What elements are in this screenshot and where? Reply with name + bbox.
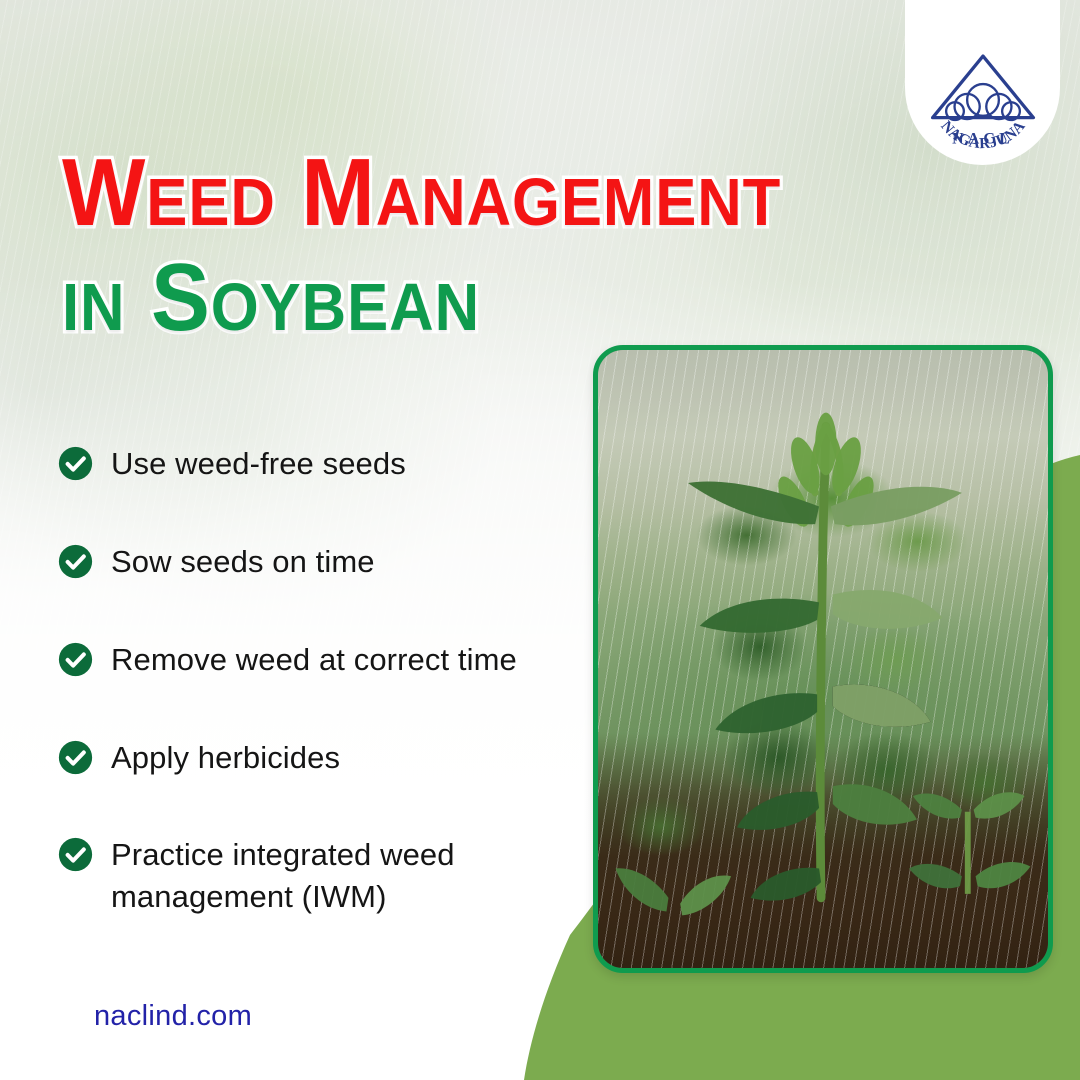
headline-line-1: Weed Management — [62, 147, 853, 238]
check-circle-icon — [58, 642, 93, 677]
list-item: Practice integrated weed management (IWM… — [58, 834, 578, 918]
list-item-label: Sow seeds on time — [111, 541, 375, 583]
website-link[interactable]: naclind.com — [94, 1000, 252, 1033]
brand-logo-badge[interactable]: NAGARJUNA NACL — [905, 0, 1060, 165]
list-item-label: Remove weed at correct time — [111, 639, 517, 681]
list-item-label: Apply herbicides — [111, 737, 340, 779]
list-item: Remove weed at correct time — [58, 639, 578, 681]
poster-canvas: NAGARJUNA NACL Weed Management in Soybea… — [0, 0, 1080, 1080]
logo-sub-text: NACL — [952, 130, 1014, 147]
check-circle-icon — [58, 837, 93, 872]
list-item-label: Practice integrated weed management (IWM… — [111, 834, 511, 918]
nagarjuna-nacl-logo: NAGARJUNA NACL — [927, 47, 1039, 151]
tips-list: Use weed-free seeds Sow seeds on time Re… — [58, 443, 578, 918]
weed-plant-illustration — [598, 350, 1048, 964]
check-circle-icon — [58, 740, 93, 775]
headline-line-2: in Soybean — [62, 252, 853, 343]
list-item: Apply herbicides — [58, 737, 578, 779]
check-circle-icon — [58, 446, 93, 481]
list-item: Use weed-free seeds — [58, 443, 578, 485]
list-item: Sow seeds on time — [58, 541, 578, 583]
soybean-weed-photo — [593, 345, 1053, 973]
headline-block: Weed Management in Soybean — [62, 147, 922, 343]
check-circle-icon — [58, 544, 93, 579]
list-item-label: Use weed-free seeds — [111, 443, 406, 485]
